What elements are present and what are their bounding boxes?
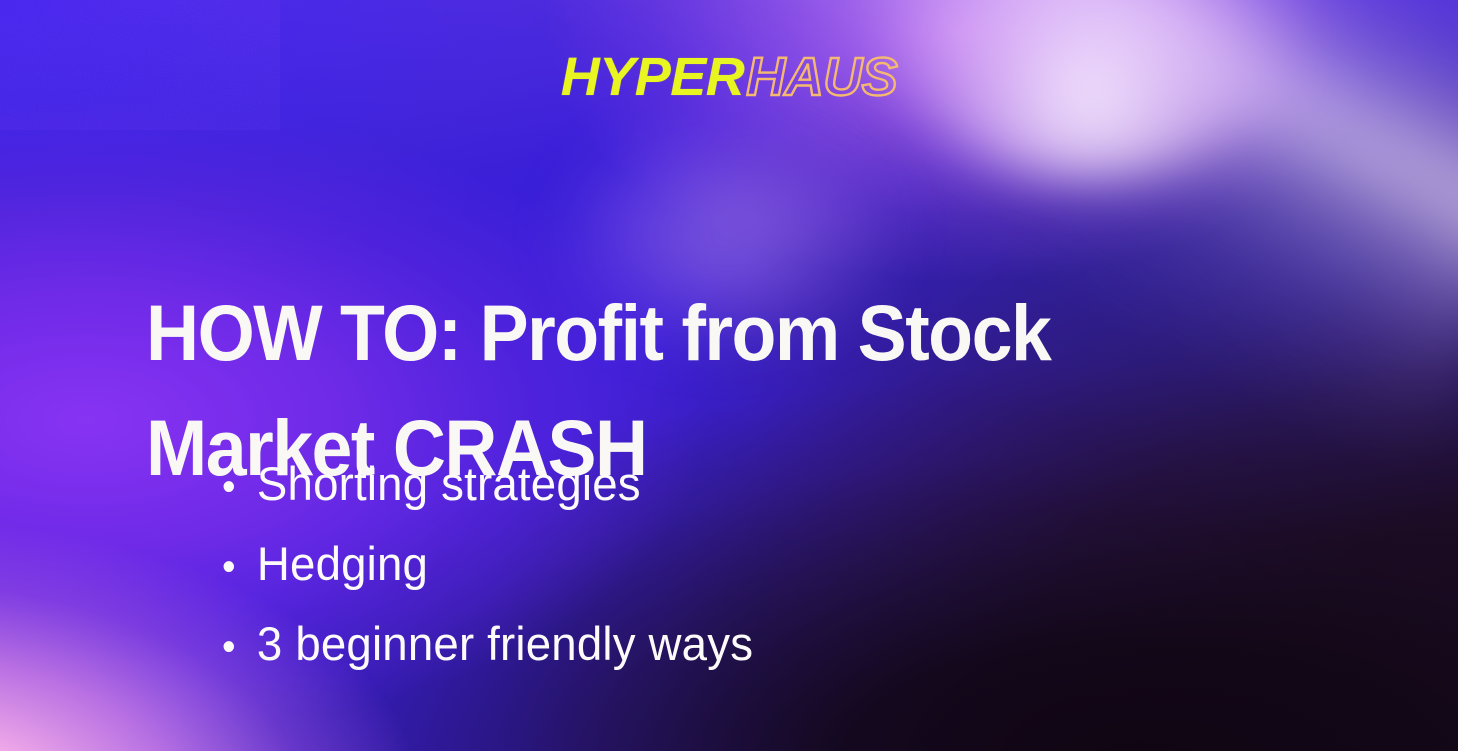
bullet-point-icon: • [222,467,257,507]
list-item-label: Shorting strategies [257,460,641,507]
list-item-label: Hedging [257,540,428,587]
content-layer: HYPERHAUS HOW TO: Profit from Stock Mark… [0,0,1458,751]
bullet-point-icon: • [222,547,257,587]
logo-word-hyper: HYPER [561,47,745,107]
feature-bullet-list: • Shorting strategies • Hedging • 3 begi… [222,460,770,700]
social-graphic-canvas: HYPERHAUS HOW TO: Profit from Stock Mark… [0,0,1458,751]
list-item: • 3 beginner friendly ways [222,620,753,700]
list-item-label: 3 beginner friendly ways [257,620,753,667]
brand-logo: HYPERHAUS [0,50,1458,104]
list-item: • Shorting strategies [222,460,753,540]
logo-word-haus: HAUS [746,47,897,107]
headline-line-1: HOW TO: Profit from Stock [146,275,1132,390]
list-item: • Hedging [222,540,753,620]
bullet-point-icon: • [222,627,257,667]
